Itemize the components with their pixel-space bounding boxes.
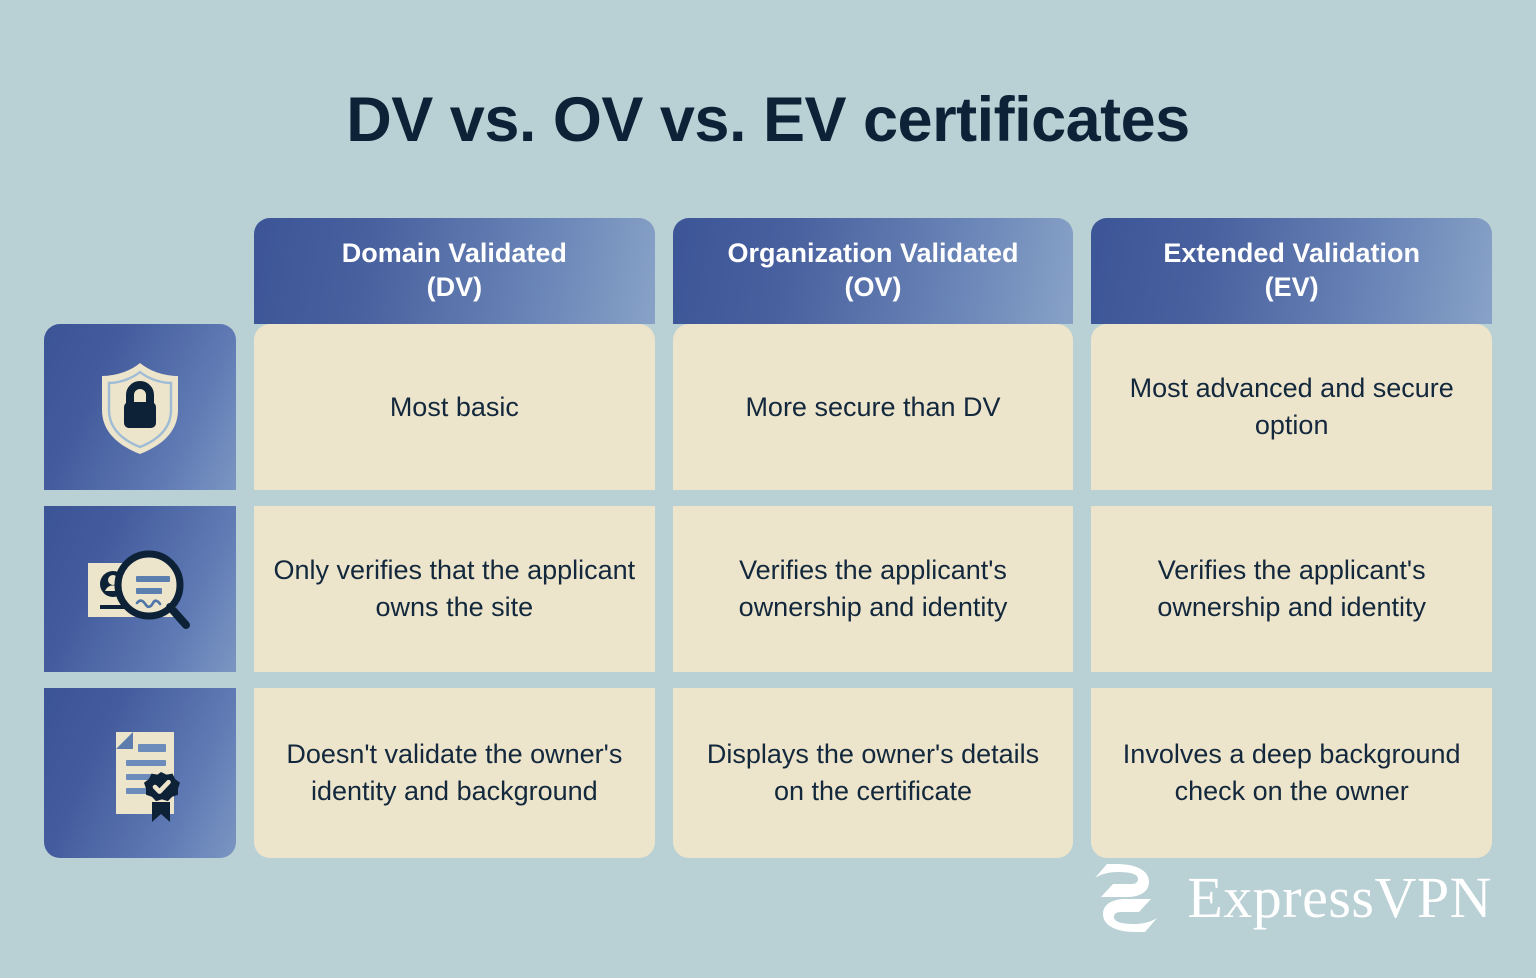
cell-text: More secure than DV <box>673 324 1074 490</box>
cell-dv-row1: Most basic <box>254 324 655 490</box>
column-header-ov: Organization Validated(OV) <box>673 218 1074 324</box>
cell-text: Verifies the applicant's ownership and i… <box>1091 506 1492 672</box>
table-header-row: Domain Validated(DV) Organization Valida… <box>44 218 1492 324</box>
infographic-page: DV vs. OV vs. EV certificates Domain Val… <box>0 0 1536 978</box>
expressvpn-wordmark: ExpressVPN <box>1187 869 1492 927</box>
cell-text: Doesn't validate the owner's identity an… <box>254 688 655 858</box>
cell-ev-row1: Most advanced and secure option <box>1091 324 1492 490</box>
certificate-seal-icon <box>88 718 192 828</box>
expressvpn-e-mark-icon <box>1087 862 1165 934</box>
table-row: Most basic More secure than DV Most adva… <box>44 324 1492 490</box>
cell-ov-row1: More secure than DV <box>673 324 1074 490</box>
cell-text: Most advanced and secure option <box>1091 324 1492 490</box>
row-icon-cell-idcard <box>44 506 236 672</box>
cell-text: Involves a deep background check on the … <box>1091 688 1492 858</box>
cell-ev-row2: Verifies the applicant's ownership and i… <box>1091 506 1492 672</box>
column-header-ov-text: Organization Validated(OV) <box>727 237 1018 305</box>
row-icon-cell-certificate <box>44 688 236 858</box>
icon-tile <box>44 688 236 858</box>
cell-dv-row3: Doesn't validate the owner's identity an… <box>254 688 655 858</box>
cell-text: Only verifies that the applicant owns th… <box>254 506 655 672</box>
table-row: Doesn't validate the owner's identity an… <box>44 688 1492 858</box>
row-icon-cell-shield <box>44 324 236 490</box>
column-header-dv: Domain Validated(DV) <box>254 218 655 324</box>
column-header-ev: Extended Validation(EV) <box>1091 218 1492 324</box>
cell-dv-row2: Only verifies that the applicant owns th… <box>254 506 655 672</box>
header-corner-spacer <box>44 218 236 324</box>
expressvpn-logo: ExpressVPN <box>1087 862 1492 934</box>
column-header-dv-text: Domain Validated(DV) <box>342 237 567 305</box>
icon-tile <box>44 324 236 490</box>
shield-lock-icon <box>88 355 192 459</box>
cell-text: Verifies the applicant's ownership and i… <box>673 506 1074 672</box>
table-row: Only verifies that the applicant owns th… <box>44 506 1492 672</box>
cell-text: Most basic <box>254 324 655 490</box>
comparison-table: Domain Validated(DV) Organization Valida… <box>44 218 1492 858</box>
page-title: DV vs. OV vs. EV certificates <box>0 86 1536 155</box>
cell-text: Displays the owner's details on the cert… <box>673 688 1074 858</box>
column-header-ev-text: Extended Validation(EV) <box>1163 237 1420 305</box>
cell-ev-row3: Involves a deep background check on the … <box>1091 688 1492 858</box>
cell-ov-row2: Verifies the applicant's ownership and i… <box>673 506 1074 672</box>
icon-tile <box>44 506 236 672</box>
id-card-magnifier-icon <box>80 537 200 641</box>
cell-ov-row3: Displays the owner's details on the cert… <box>673 688 1074 858</box>
